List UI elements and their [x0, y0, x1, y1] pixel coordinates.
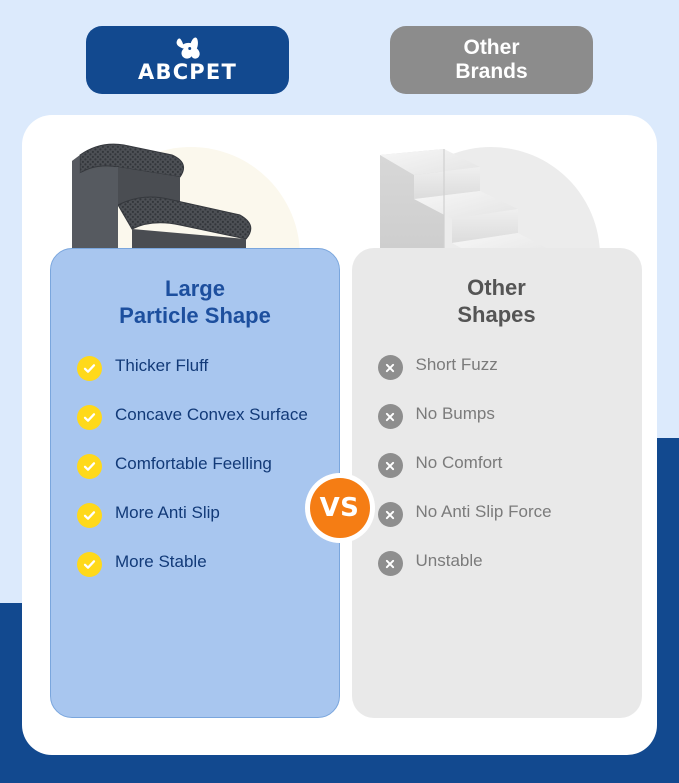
list-item: No Anti Slip Force	[378, 501, 626, 527]
comparison-infographic: ABCPET Other Brands	[0, 0, 679, 783]
feature-label: Thicker Fluff	[115, 355, 208, 376]
list-item: No Bumps	[378, 403, 626, 429]
list-item: Comfortable Feelling	[77, 453, 323, 479]
other-title-line2: Shapes	[352, 301, 642, 328]
other-brands-line1: Other	[463, 36, 519, 60]
x-icon	[378, 355, 403, 380]
list-item: Unstable	[378, 550, 626, 576]
feature-label: No Anti Slip Force	[416, 501, 552, 522]
brand-header-pill: ABCPET	[86, 26, 289, 94]
x-icon	[378, 404, 403, 429]
other-brands-column: Other Shapes Short Fuzz	[340, 115, 658, 755]
vs-badge: VS	[310, 478, 370, 538]
other-brands-header-pill: Other Brands	[390, 26, 593, 94]
feature-label: No Bumps	[416, 403, 495, 424]
comparison-columns: Large Particle Shape Thicker Fluff	[22, 115, 657, 755]
check-icon	[77, 552, 102, 577]
list-item: More Anti Slip	[77, 502, 323, 528]
other-feature-list: Short Fuzz No Bumps No Com	[352, 354, 642, 576]
brand-title-line2: Particle Shape	[51, 302, 339, 329]
brand-column: Large Particle Shape Thicker Fluff	[22, 115, 340, 755]
other-title-line1: Other	[352, 274, 642, 301]
other-feature-panel: Other Shapes Short Fuzz	[352, 248, 642, 718]
list-item: More Stable	[77, 551, 323, 577]
brand-feature-list: Thicker Fluff Concave Convex Surface	[51, 355, 339, 577]
feature-label: Comfortable Feelling	[115, 453, 272, 474]
feature-label: Concave Convex Surface	[115, 404, 308, 425]
x-icon	[378, 502, 403, 527]
vs-label: VS	[320, 493, 360, 523]
check-icon	[77, 454, 102, 479]
list-item: Thicker Fluff	[77, 355, 323, 381]
x-icon	[378, 551, 403, 576]
list-item: Short Fuzz	[378, 354, 626, 380]
check-icon	[77, 503, 102, 528]
brand-feature-panel: Large Particle Shape Thicker Fluff	[50, 248, 340, 718]
list-item: Concave Convex Surface	[77, 404, 323, 430]
feature-label: Unstable	[416, 550, 483, 571]
list-item: No Comfort	[378, 452, 626, 478]
dog-head-icon	[170, 37, 206, 59]
brand-title-line1: Large	[51, 275, 339, 302]
x-icon	[378, 453, 403, 478]
check-icon	[77, 405, 102, 430]
comparison-card: Large Particle Shape Thicker Fluff	[22, 115, 657, 755]
other-panel-title: Other Shapes	[352, 270, 642, 328]
feature-label: More Stable	[115, 551, 207, 572]
feature-label: Short Fuzz	[416, 354, 498, 375]
other-brands-line2: Brands	[455, 60, 527, 84]
feature-label: No Comfort	[416, 452, 503, 473]
brand-panel-title: Large Particle Shape	[51, 271, 339, 329]
feature-label: More Anti Slip	[115, 502, 220, 523]
brand-name-label: ABCPET	[138, 60, 237, 84]
check-icon	[77, 356, 102, 381]
header-row: ABCPET Other Brands	[0, 26, 679, 94]
